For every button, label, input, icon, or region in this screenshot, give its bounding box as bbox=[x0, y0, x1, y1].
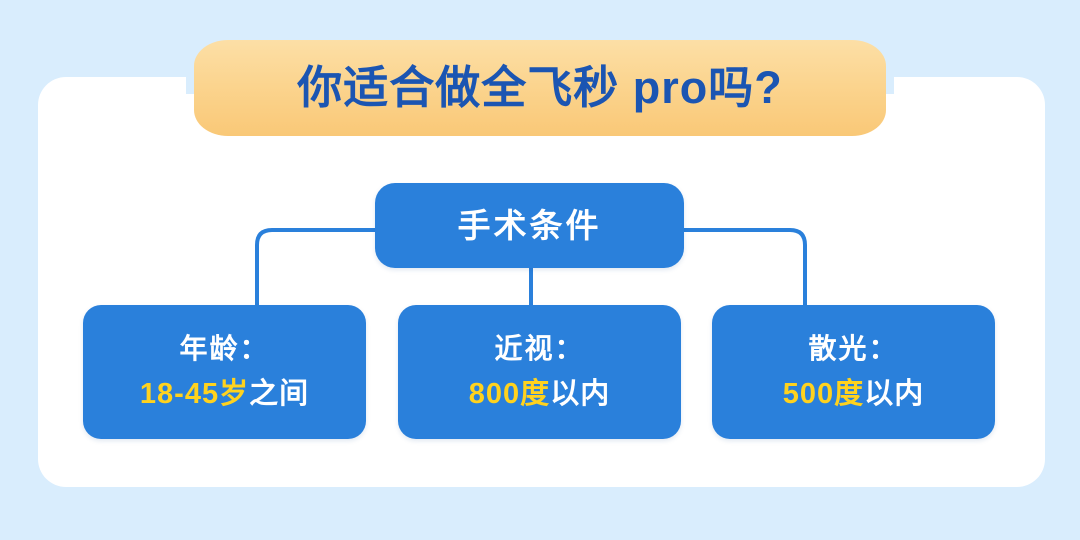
node-age-value-highlight: 18-45岁 bbox=[140, 378, 249, 410]
banner-body: 你适合做全飞秒 pro吗? bbox=[194, 40, 886, 136]
node-astigmatism-value-plain: 以内 bbox=[864, 378, 924, 410]
node-astigmatism-label: 散光： bbox=[808, 335, 898, 363]
node-age[interactable]: 年龄： 18-45岁之间 bbox=[83, 305, 366, 439]
node-astigmatism-value: 500度以内 bbox=[783, 380, 924, 409]
node-age-label: 年龄： bbox=[179, 335, 269, 363]
node-myopia-value: 800度以内 bbox=[469, 380, 610, 409]
node-myopia-label: 近视： bbox=[494, 335, 584, 363]
infographic-canvas: 你适合做全飞秒 pro吗? 手术条件 年龄： 18-45岁之间 近视： 800度… bbox=[0, 0, 1080, 540]
node-root-title: 手术条件 bbox=[458, 209, 602, 242]
node-astigmatism[interactable]: 散光： 500度以内 bbox=[712, 305, 995, 439]
node-age-value-plain: 之间 bbox=[249, 378, 309, 410]
node-astigmatism-value-highlight: 500度 bbox=[783, 378, 864, 410]
node-myopia-value-plain: 以内 bbox=[550, 378, 610, 410]
banner-title: 你适合做全飞秒 pro吗? bbox=[297, 65, 782, 112]
node-age-value: 18-45岁之间 bbox=[140, 380, 309, 409]
banner-ribbon: 你适合做全飞秒 pro吗? bbox=[186, 40, 894, 136]
node-myopia[interactable]: 近视： 800度以内 bbox=[398, 305, 681, 439]
node-surgery-conditions[interactable]: 手术条件 bbox=[375, 183, 684, 268]
node-myopia-value-highlight: 800度 bbox=[469, 378, 550, 410]
